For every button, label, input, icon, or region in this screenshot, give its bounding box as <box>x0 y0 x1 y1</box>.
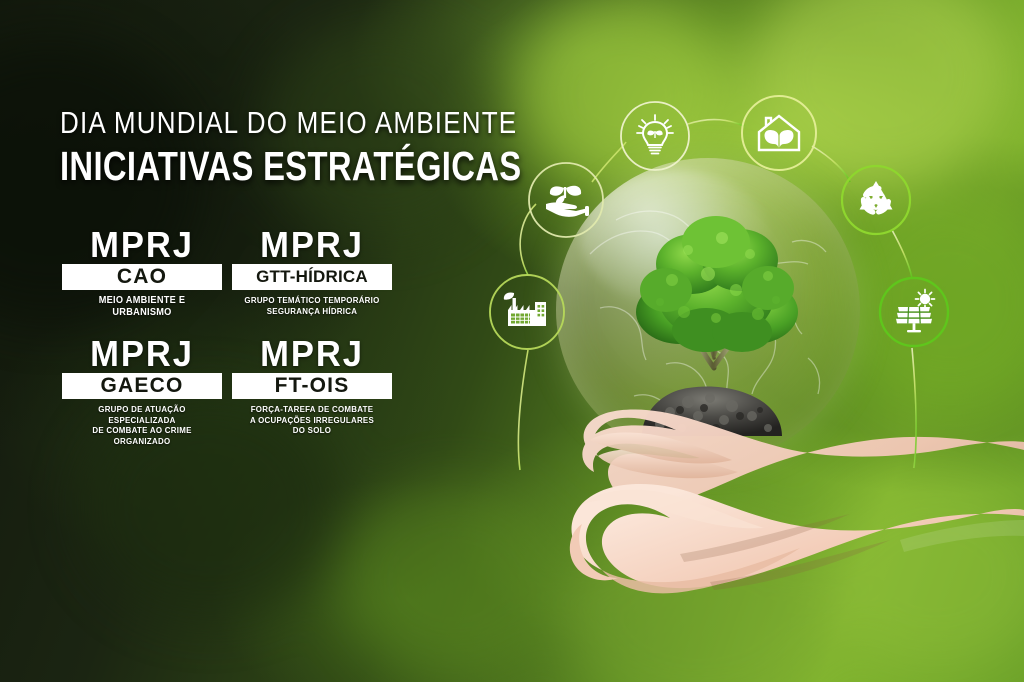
ring-connector <box>912 348 916 468</box>
ring-connector <box>592 142 626 182</box>
eco-factory-icon <box>504 292 546 326</box>
logo-subtitle-line: A OCUPAÇÕES IRREGULARES <box>238 415 385 426</box>
logo-grid: MPRJ CAO MEIO AMBIENTE E URBANISMO MPRJ … <box>62 228 462 446</box>
logo-brand: MPRJ <box>235 337 389 370</box>
logo-subtitle: FORÇA-TAREFA DE COMBATE A OCUPAÇÕES IRRE… <box>238 404 385 436</box>
lightbulb-leaf-icon <box>637 115 673 154</box>
logo-subtitle-line: GRUPO TEMÁTICO TEMPORÁRIO <box>238 295 385 306</box>
headline-block: DIA MUNDIAL DO MEIO AMBIENTE INICIATIVAS… <box>60 106 490 188</box>
logo-brand: MPRJ <box>65 228 219 261</box>
headline-line-1: DIA MUNDIAL DO MEIO AMBIENTE <box>60 106 421 140</box>
ring-connector <box>688 120 744 126</box>
logo-subtitle-line: FORÇA-TAREFA DE COMBATE <box>238 404 385 415</box>
ring-connector <box>812 146 850 182</box>
logo-subtitle: GRUPO DE ATUAÇÃO ESPECIALIZADA DE COMBAT… <box>68 404 215 446</box>
logo-gtt-hidrica: MPRJ GTT-HÍDRICA GRUPO TEMÁTICO TEMPORÁR… <box>232 228 392 319</box>
logo-subtitle: GRUPO TEMÁTICO TEMPORÁRIO SEGURANÇA HÍDR… <box>238 295 385 316</box>
hand-plant-icon-ring <box>529 163 603 237</box>
ring-connector <box>892 230 912 278</box>
headline-line-2: INICIATIVAS ESTRATÉGICAS <box>60 144 404 188</box>
logo-badge: GTT-HÍDRICA <box>232 264 392 290</box>
hand-plant-icon <box>546 186 589 217</box>
logo-subtitle-line: DO SOLO <box>238 425 385 436</box>
ring-connector <box>520 204 536 275</box>
logo-ft-ois: MPRJ FT-OIS FORÇA-TAREFA DE COMBATE A OC… <box>232 337 392 446</box>
logo-subtitle-line: MEIO AMBIENTE E <box>68 295 215 307</box>
logo-brand: MPRJ <box>65 337 219 370</box>
logo-badge: CAO <box>62 264 222 290</box>
logo-badge: GAECO <box>62 373 222 399</box>
eco-house-icon-ring <box>742 96 816 170</box>
solar-panel-icon <box>896 290 935 333</box>
logo-brand: MPRJ <box>235 228 389 261</box>
poster-canvas: DIA MUNDIAL DO MEIO AMBIENTE INICIATIVAS… <box>0 0 1024 682</box>
logo-subtitle-line: DE COMBATE AO CRIME ORGANIZADO <box>68 425 215 446</box>
logo-subtitle-line: URBANISMO <box>68 307 215 319</box>
ring-connector <box>518 350 528 470</box>
logo-subtitle-line: SEGURANÇA HÍDRICA <box>238 306 385 317</box>
logo-subtitle: MEIO AMBIENTE E URBANISMO <box>68 295 215 319</box>
logo-cao: MPRJ CAO MEIO AMBIENTE E URBANISMO <box>62 228 222 319</box>
logo-subtitle-line: GRUPO DE ATUAÇÃO ESPECIALIZADA <box>68 404 215 425</box>
logo-badge: FT-OIS <box>232 373 392 399</box>
eco-house-icon <box>759 116 799 150</box>
logo-gaeco: MPRJ GAECO GRUPO DE ATUAÇÃO ESPECIALIZAD… <box>62 337 222 446</box>
